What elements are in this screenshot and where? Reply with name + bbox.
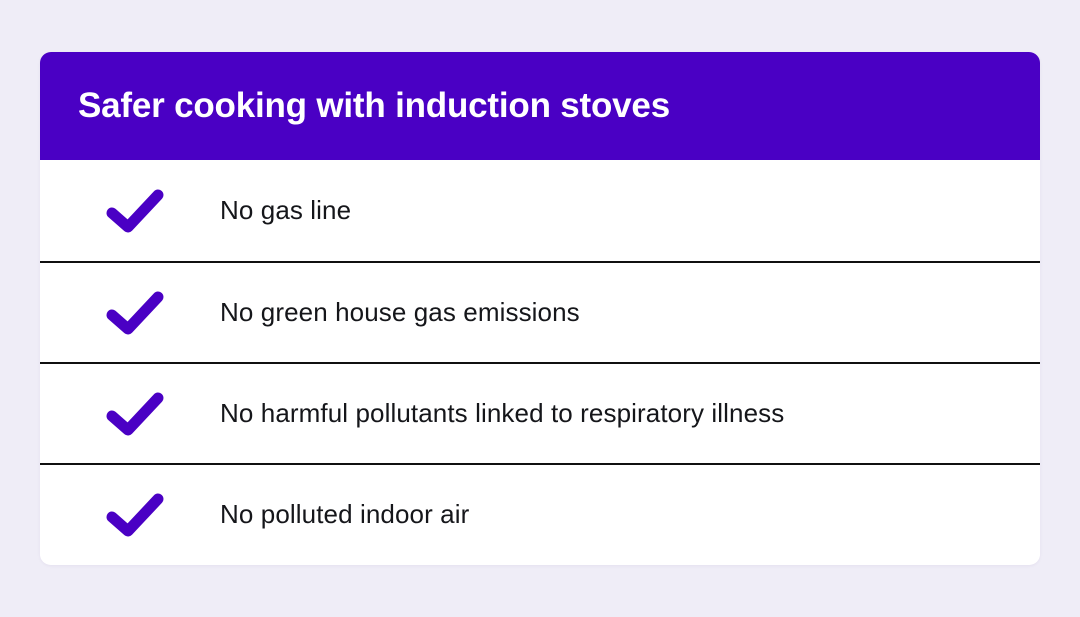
check-icon [106, 391, 164, 437]
list-item: No green house gas emissions [40, 261, 1040, 362]
list-item: No polluted indoor air [40, 463, 1040, 564]
benefits-list: No gas line No green house gas emissions… [40, 160, 1040, 564]
list-item: No gas line [40, 160, 1040, 261]
card-header: Safer cooking with induction stoves [40, 52, 1040, 160]
benefits-card: Safer cooking with induction stoves No g… [40, 52, 1040, 565]
list-item-label: No harmful pollutants linked to respirat… [220, 398, 784, 429]
check-cell [40, 188, 220, 234]
list-item-label: No gas line [220, 195, 351, 226]
check-icon [106, 492, 164, 538]
check-cell [40, 290, 220, 336]
check-cell [40, 492, 220, 538]
list-item-label: No polluted indoor air [220, 499, 469, 530]
page-title: Safer cooking with induction stoves [78, 87, 670, 126]
list-item: No harmful pollutants linked to respirat… [40, 362, 1040, 463]
check-icon [106, 290, 164, 336]
check-cell [40, 391, 220, 437]
list-item-label: No green house gas emissions [220, 297, 580, 328]
check-icon [106, 188, 164, 234]
page-root: Safer cooking with induction stoves No g… [0, 0, 1080, 617]
